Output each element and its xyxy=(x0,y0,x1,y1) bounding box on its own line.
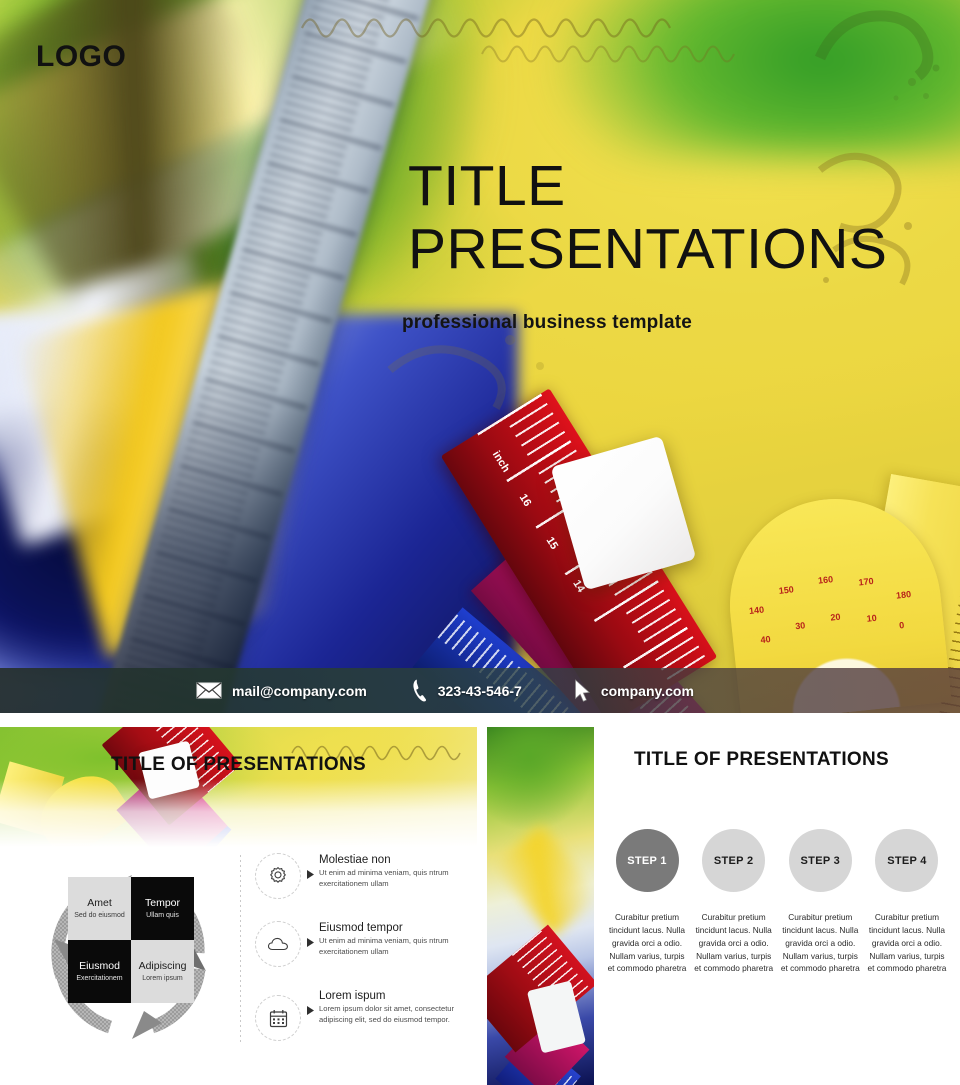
step-circle-3[interactable]: STEP 3 xyxy=(789,829,852,892)
step-label: STEP 1 xyxy=(627,855,667,867)
contact-bar: mail@company.com 323-43-546-7 company.co… xyxy=(0,668,960,713)
step-circle-4[interactable]: STEP 4 xyxy=(875,829,938,892)
gear-icon xyxy=(268,866,288,886)
gear-icon-circle xyxy=(255,853,301,899)
contact-website-text: company.com xyxy=(601,683,694,699)
quadrant-label: Amet xyxy=(87,897,112,909)
list-item-body: Lorem ipsum dolor sit amet, consectetur … xyxy=(319,1003,470,1025)
hero-background-artwork: 140 150 160 170 180 40 30 20 10 0 inch xyxy=(0,0,960,713)
protractor-label-170: 170 xyxy=(858,576,874,588)
calendar-icon xyxy=(269,1009,288,1028)
step-body: Curabitur pretium tincidunt lacus. Nulla… xyxy=(607,911,687,975)
contact-phone[interactable]: 323-43-546-7 xyxy=(411,678,522,703)
step-body: Curabitur pretium tincidunt lacus. Nulla… xyxy=(694,911,774,975)
step-circle-1[interactable]: STEP 1 xyxy=(616,829,679,892)
left-banner-fade xyxy=(0,779,477,847)
quadrant-label: Adipiscing xyxy=(139,960,187,972)
contact-email[interactable]: mail@company.com xyxy=(196,682,367,699)
list-item-body: Ut enim ad minima veniam, quis ntrum exe… xyxy=(319,867,470,889)
step-body: Curabitur pretium tincidunt lacus. Nulla… xyxy=(780,911,860,975)
step-label: STEP 2 xyxy=(714,855,754,867)
presentation-preview-page: 140 150 160 170 180 40 30 20 10 0 inch xyxy=(0,0,960,1085)
list-item-text: Molestiae non Ut enim ad minima veniam, … xyxy=(319,853,470,889)
cloud-icon-circle xyxy=(255,921,301,967)
list-item-title: Lorem ispum xyxy=(319,990,470,1002)
chevron-right-icon xyxy=(301,921,319,947)
envelope-icon xyxy=(196,682,222,699)
protractor-label-180: 180 xyxy=(895,590,911,602)
protractor-label-140: 140 xyxy=(748,605,764,617)
right-slide-image-strip xyxy=(487,727,594,1085)
list-item[interactable]: Molestiae non Ut enim ad minima veniam, … xyxy=(255,853,470,899)
slide-steps[interactable]: TITLE OF PRESENTATIONS STEP 1 Curabitur … xyxy=(487,727,960,1085)
step-column[interactable]: STEP 4 Curabitur pretium tincidunt lacus… xyxy=(867,829,947,975)
phone-icon xyxy=(411,678,428,703)
quadrant-sublabel: Exercitationem xyxy=(76,975,122,983)
step-column[interactable]: STEP 2 Curabitur pretium tincidunt lacus… xyxy=(694,829,774,975)
chevron-right-icon xyxy=(301,989,319,1015)
quadrant-sublabel: Sed do eiusmod xyxy=(74,912,125,920)
protractor-label-0: 0 xyxy=(898,620,904,630)
contact-website[interactable]: company.com xyxy=(574,679,694,703)
list-divider xyxy=(240,855,241,1045)
step-label: STEP 3 xyxy=(801,855,841,867)
list-item[interactable]: Lorem ispum Lorem ipsum dolor sit amet, … xyxy=(255,989,470,1041)
list-item[interactable]: Eiusmod tempor Ut enim ad minima veniam,… xyxy=(255,921,470,967)
cycle-quadrants: Amet Sed do eiusmod Tempor Ullam quis Ei… xyxy=(68,877,194,1003)
cursor-icon xyxy=(574,679,591,703)
list-item-title: Eiusmod tempor xyxy=(319,922,470,934)
left-slide-banner xyxy=(0,727,477,847)
contact-email-text: mail@company.com xyxy=(232,683,367,699)
left-slide-title: TITLE OF PRESENTATIONS xyxy=(0,754,477,776)
steps-row: STEP 1 Curabitur pretium tincidunt lacus… xyxy=(607,829,947,975)
protractor-label-40: 40 xyxy=(760,634,771,645)
list-item-text: Eiusmod tempor Ut enim ad minima veniam,… xyxy=(319,921,470,957)
cycle-quadrant-tempor[interactable]: Tempor Ullam quis xyxy=(131,877,194,940)
step-circle-2[interactable]: STEP 2 xyxy=(702,829,765,892)
quadrant-sublabel: Ullam quis xyxy=(146,912,179,920)
cycle-quadrant-amet[interactable]: Amet Sed do eiusmod xyxy=(68,877,131,940)
cycle-quadrant-eiusmod[interactable]: Eiusmod Exercitationem xyxy=(68,940,131,1003)
protractor-label-30: 30 xyxy=(794,620,805,631)
cycle-diagram: Amet Sed do eiusmod Tempor Ullam quis Ei… xyxy=(36,857,226,1052)
protractor-label-160: 160 xyxy=(817,574,833,586)
quadrant-label: Eiusmod xyxy=(79,960,120,972)
strip-yellow-streak xyxy=(492,825,594,938)
quadrant-label: Tempor xyxy=(145,897,180,909)
logo-text: LOGO xyxy=(36,40,126,74)
hero-slide: 140 150 160 170 180 40 30 20 10 0 inch xyxy=(0,0,960,713)
slide-cycle-diagram[interactable]: TITLE OF PRESENTATIONS xyxy=(0,727,477,1085)
slide-thumbnails: TITLE OF PRESENTATIONS xyxy=(0,727,960,1085)
hero-subtitle: professional business template xyxy=(402,312,692,334)
right-slide-title: TITLE OF PRESENTATIONS xyxy=(575,749,948,771)
contact-phone-text: 323-43-546-7 xyxy=(438,683,522,699)
step-label: STEP 4 xyxy=(887,855,927,867)
cloud-icon xyxy=(267,936,289,952)
feature-list: Molestiae non Ut enim ad minima veniam, … xyxy=(255,853,470,1063)
list-item-title: Molestiae non xyxy=(319,854,470,866)
squiggle-texture-mid xyxy=(480,30,830,78)
protractor-label-20: 20 xyxy=(830,612,841,623)
hero-title-line1: TITLE xyxy=(408,154,566,218)
list-item-text: Lorem ispum Lorem ipsum dolor sit amet, … xyxy=(319,989,470,1025)
protractor-label-150: 150 xyxy=(778,585,794,597)
step-body: Curabitur pretium tincidunt lacus. Nulla… xyxy=(867,911,947,975)
chevron-right-icon xyxy=(301,853,319,879)
step-column[interactable]: STEP 3 Curabitur pretium tincidunt lacus… xyxy=(780,829,860,975)
hero-title-line2: PRESENTATIONS xyxy=(408,218,948,281)
calendar-icon-circle xyxy=(255,995,301,1041)
paint-splatter-topright xyxy=(800,6,950,136)
list-item-body: Ut enim ad minima veniam, quis ntrum exe… xyxy=(319,935,470,957)
cycle-quadrant-adipiscing[interactable]: Adipiscing Lorem ipsum xyxy=(131,940,194,1003)
step-column[interactable]: STEP 1 Curabitur pretium tincidunt lacus… xyxy=(607,829,687,975)
hero-title: TITLE PRESENTATIONS xyxy=(408,155,948,280)
quadrant-sublabel: Lorem ipsum xyxy=(142,975,182,983)
protractor-label-10: 10 xyxy=(866,613,877,624)
